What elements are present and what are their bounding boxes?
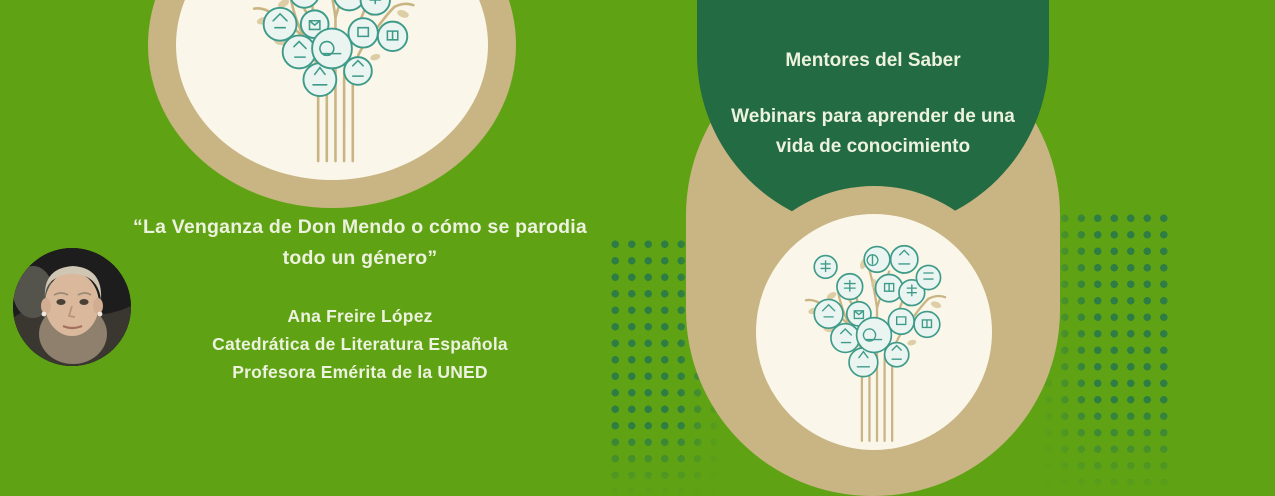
right-panel: Mentores del Saber Webinars para aprende… <box>600 0 1275 496</box>
logo-inner-disc <box>756 214 992 450</box>
speaker-affiliation: Profesora Emérita de la UNED <box>130 358 590 386</box>
slide-canvas: “La Venganza de Don Mendo o cómo se paro… <box>0 0 1275 496</box>
left-logo <box>148 0 516 208</box>
avatar <box>13 248 131 366</box>
speaker-role: Catedrática de Literatura Española <box>130 330 590 358</box>
tree-of-knowledge-icon <box>756 214 992 450</box>
logo-inner-disc <box>176 0 488 180</box>
brand-title: Mentores del Saber <box>697 48 1049 74</box>
panel-divider <box>600 0 607 496</box>
tree-of-knowledge-icon <box>176 0 488 180</box>
brand-subtitle: Webinars para aprender de una vida de co… <box>697 102 1049 162</box>
talk-title: “La Venganza de Don Mendo o cómo se paro… <box>130 212 590 274</box>
brand-text-block: Mentores del Saber Webinars para aprende… <box>697 48 1049 162</box>
left-panel: “La Venganza de Don Mendo o cómo se paro… <box>0 0 600 496</box>
left-text-block: “La Venganza de Don Mendo o cómo se paro… <box>130 212 590 386</box>
right-logo <box>728 186 1020 478</box>
speaker-name: Ana Freire López <box>130 302 590 330</box>
speaker-block: Ana Freire López Catedrática de Literatu… <box>130 302 590 386</box>
